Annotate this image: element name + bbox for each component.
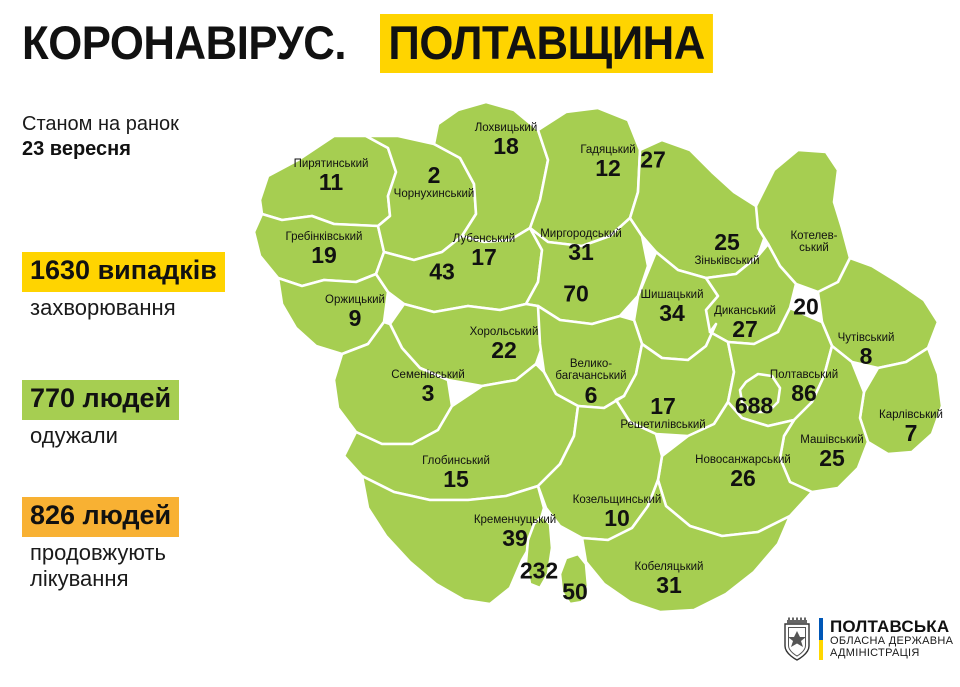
district-shape-pyriatynskyi[interactable] (260, 136, 396, 226)
district-shape-zinkivskyi[interactable] (630, 140, 768, 278)
stat-treating-caption-line1: продовжують (22, 540, 179, 566)
stats-panel: Станом на ранок 23 вересня 1630 випадків… (22, 112, 272, 162)
stat-recovered: 770 людей одужали (22, 380, 179, 449)
stat-treating-value: 826 людей (22, 497, 179, 537)
logo-line-3: АДМІНІСТРАЦІЯ (830, 648, 953, 660)
as-of-date: 23 вересня (22, 137, 272, 162)
oblast-administration-logo: ПОЛТАВСЬКА ОБЛАСНА ДЕРЖАВНА АДМІНІСТРАЦІ… (782, 616, 953, 662)
stat-recovered-value: 770 людей (22, 380, 179, 420)
district-shape-hrebinkivskyi[interactable] (254, 214, 384, 286)
stat-cases-caption: захворювання (22, 295, 225, 321)
city-shape-horishni-plavny[interactable] (560, 554, 588, 604)
map-districts (254, 102, 942, 612)
coat-of-arms-icon (782, 616, 812, 662)
stat-treating: 826 людей продовжують лікування (22, 497, 179, 592)
poltava-oblast-map: Пирятинський 11 2 Чорнухинський Лохвицьк… (238, 96, 960, 641)
page-header: КОРОНАВІРУС. ПОЛТАВЩИНА (22, 14, 739, 73)
ukraine-flag-bar (819, 618, 823, 660)
stat-cases: 1630 випадків захворювання (22, 252, 225, 321)
map-svg (238, 96, 960, 641)
page-title-main: КОРОНАВІРУС. (22, 19, 346, 66)
logo-line-1: ПОЛТАВСЬКА (830, 618, 953, 636)
page-title-highlight: ПОЛТАВЩИНА (380, 14, 713, 73)
stat-cases-value: 1630 випадків (22, 252, 225, 292)
as-of-label: Станом на ранок (22, 112, 272, 137)
logo-text: ПОЛТАВСЬКА ОБЛАСНА ДЕРЖАВНА АДМІНІСТРАЦІ… (830, 618, 953, 660)
stat-treating-caption-line2: лікування (22, 566, 179, 592)
stat-recovered-caption: одужали (22, 423, 179, 449)
